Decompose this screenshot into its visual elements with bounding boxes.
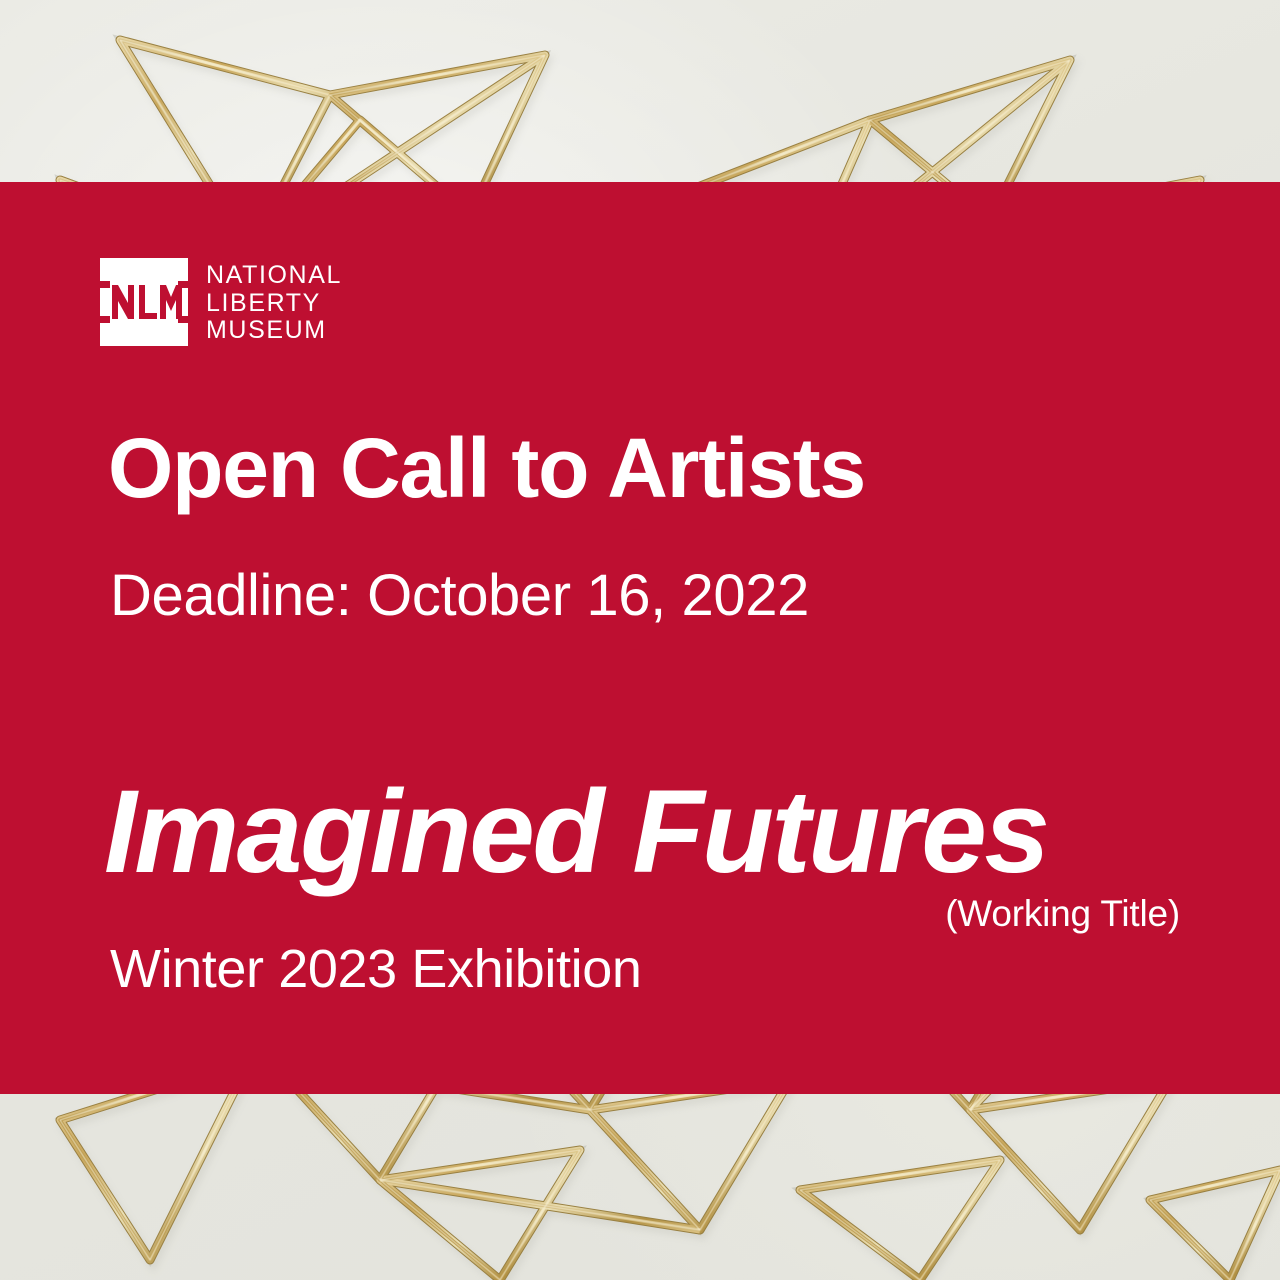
museum-logo-lockup[interactable]: NATIONAL LIBERTY MUSEUM xyxy=(100,258,342,346)
exhibition-season: Winter 2023 Exhibition xyxy=(110,940,642,998)
page-title: Open Call to Artists xyxy=(108,424,865,512)
deadline-text: Deadline: October 16, 2022 xyxy=(110,565,809,627)
wordmark-line-3: MUSEUM xyxy=(206,317,342,345)
nlm-logo-mark-icon xyxy=(100,258,188,346)
poster-canvas: NATIONAL LIBERTY MUSEUM Open Call to Art… xyxy=(0,0,1280,1280)
working-title-note: (Working Title) xyxy=(945,893,1180,935)
wordmark-line-1: NATIONAL xyxy=(206,262,342,290)
exhibition-title: Imagined Futures xyxy=(104,772,1047,892)
museum-wordmark: NATIONAL LIBERTY MUSEUM xyxy=(206,258,342,345)
wordmark-line-2: LIBERTY xyxy=(206,290,342,318)
